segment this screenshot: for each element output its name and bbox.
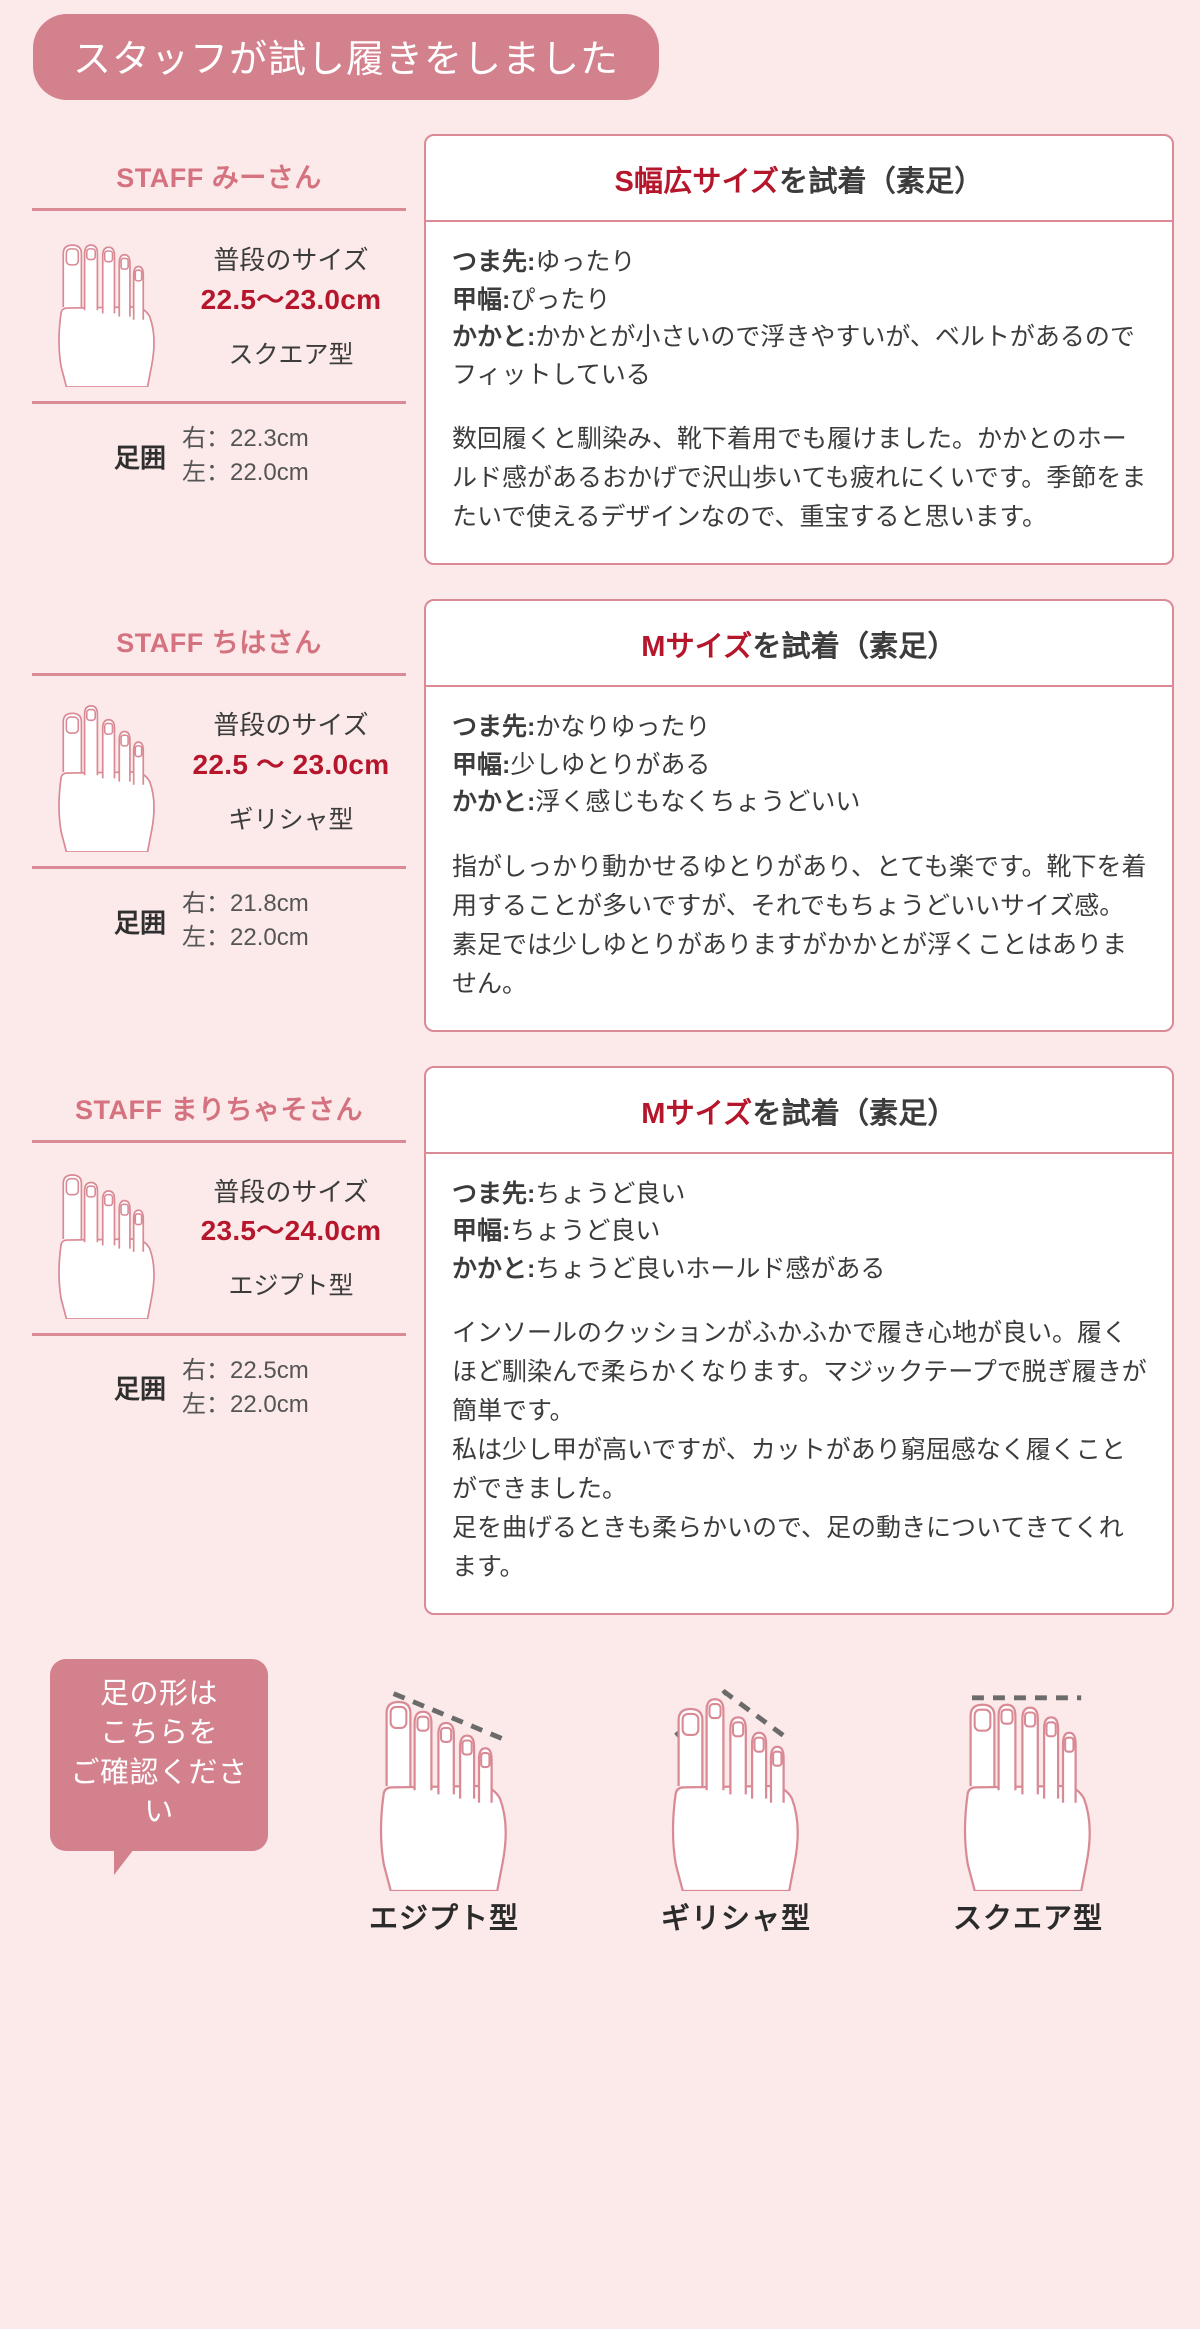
usual-size-value: 23.5〜24.0cm (182, 1210, 400, 1252)
size-highlight: Mサイズ (641, 1098, 752, 1130)
staff-review-block: STAFF みーさん 普段のサイズ 22.5〜23.0cm スクエア型 足囲 右… (26, 134, 1174, 565)
fit-value: 浮く感じもなくちょうどいい (535, 788, 860, 816)
fit-line: かかと:浮く感じもなくちょうどいい (452, 784, 1148, 822)
foot-type-label: エジプト型 (182, 1266, 400, 1302)
foot-type-card: エジプト型 (298, 1686, 590, 1937)
fit-value: ちょうど良いホールド感がある (535, 1255, 885, 1283)
staff-foot-figure (32, 227, 182, 387)
usual-size-label: 普段のサイズ (182, 1175, 400, 1210)
page-title-badge: スタッフが試し履きをしました (33, 14, 659, 100)
foot-types-section: 足の形はこちらをご確認ください エジプト型 ギリシャ型 (26, 1659, 1174, 1937)
foot-type-name: ギリシャ型 (590, 1895, 882, 1937)
fit-line: つま先:ちょうど良い (452, 1176, 1148, 1214)
fit-line: つま先:ゆったり (452, 244, 1148, 282)
foot-type-art (590, 1686, 882, 1891)
foot-type-art (882, 1686, 1174, 1891)
circumference-left: 左：22.0cm (182, 1388, 309, 1422)
circumference-right: 右：22.3cm (182, 422, 309, 456)
staff-review-block: STAFF ちはさん 普段のサイズ 22.5 〜 23.0cm ギリシャ型 足囲… (26, 599, 1174, 1032)
fit-value: ちょうど良い (510, 1217, 660, 1245)
fit-label: かかと: (452, 323, 535, 351)
fit-value: 少しゆとりがある (510, 751, 710, 779)
fit-label: かかと: (452, 1255, 535, 1283)
callout-line: 足の形は (60, 1675, 258, 1714)
circumference-label: 足囲 (32, 1369, 182, 1406)
staff-size-row: 普段のサイズ 22.5〜23.0cm スクエア型 (32, 211, 406, 401)
review-card: S幅広サイズを試着（素足） つま先:ゆったり甲幅:ぴったりかかと:かかとが小さい… (424, 134, 1174, 565)
staff-name: STAFF みーさん (32, 134, 406, 208)
review-card-title: Mサイズを試着（素足） (426, 1068, 1172, 1154)
review-card-title: S幅広サイズを試着（素足） (426, 136, 1172, 222)
staff-foot-figure (32, 692, 182, 852)
review-card-title: Mサイズを試着（素足） (426, 601, 1172, 687)
foot-illustration-square (43, 227, 171, 387)
circumference-right: 右：21.8cm (182, 887, 309, 921)
review-card-body: つま先:ちょうど良い甲幅:ちょうど良いかかと:ちょうど良いホールド感がある イン… (426, 1154, 1172, 1614)
fit-value: ぴったり (510, 286, 610, 314)
fit-line: 甲幅:ちょうど良い (452, 1213, 1148, 1251)
review-card-body: つま先:かなりゆったり甲幅:少しゆとりがあるかかと:浮く感じもなくちょうどいい … (426, 687, 1172, 1030)
usual-size-value: 22.5 〜 23.0cm (182, 744, 400, 786)
fit-label: つま先: (452, 248, 535, 276)
staff-info-column: STAFF まりちゃそさん 普段のサイズ 23.5〜24.0cm エジプト型 足… (32, 1066, 424, 1616)
review-paragraph: 素足では少しゆとりがありますがかかとが浮くことはありません。 (452, 926, 1148, 1004)
fit-label: 甲幅: (452, 286, 510, 314)
staff-info-column: STAFF ちはさん 普段のサイズ 22.5 〜 23.0cm ギリシャ型 足囲… (32, 599, 424, 1032)
size-highlight: S幅広サイズ (614, 166, 779, 198)
foot-circumference-row: 足囲 右：21.8cm 左：22.0cm (32, 869, 406, 961)
review-paragraph: 足を曲げるときも柔らかいので、足の動きについてきてくれます。 (452, 1509, 1148, 1587)
foot-type-diagrams: エジプト型 ギリシャ型 スクエア型 (298, 1686, 1174, 1937)
fit-line: 甲幅:少しゆとりがある (452, 747, 1148, 785)
foot-illustration-egypt (43, 1159, 171, 1319)
circumference-left: 左：22.0cm (182, 921, 309, 955)
fit-value: かなりゆったり (535, 713, 710, 741)
foot-illustration-square (944, 1681, 1112, 1891)
size-highlight: Mサイズ (641, 631, 752, 663)
foot-type-label: スクエア型 (182, 335, 400, 371)
foot-circumference-row: 足囲 右：22.5cm 左：22.0cm (32, 1336, 406, 1428)
fit-label: つま先: (452, 1180, 535, 1208)
staff-review-block: STAFF まりちゃそさん 普段のサイズ 23.5〜24.0cm エジプト型 足… (26, 1066, 1174, 1616)
fit-line: つま先:かなりゆったり (452, 709, 1148, 747)
review-paragraph: 私は少し甲が高いですが、カットがあり窮屈感なく履くことができました。 (452, 1431, 1148, 1509)
fit-label: 甲幅: (452, 1217, 510, 1245)
fit-line: かかと:ちょうど良いホールド感がある (452, 1251, 1148, 1289)
callout-line: こちらを (60, 1714, 258, 1753)
foot-illustration-egypt (360, 1681, 528, 1891)
circumference-left: 左：22.0cm (182, 456, 309, 490)
fit-label: つま先: (452, 713, 535, 741)
foot-type-art (298, 1686, 590, 1891)
fit-line: かかと:かかとが小さいので浮きやすいが、ベルトがあるのでフィットしている (452, 319, 1148, 394)
review-card: Mサイズを試着（素足） つま先:ちょうど良い甲幅:ちょうど良いかかと:ちょうど良… (424, 1066, 1174, 1616)
staff-size-row: 普段のサイズ 22.5 〜 23.0cm ギリシャ型 (32, 676, 406, 866)
fit-value: かかとが小さいので浮きやすいが、ベルトがあるのでフィットしている (452, 323, 1135, 389)
staff-size-row: 普段のサイズ 23.5〜24.0cm エジプト型 (32, 1143, 406, 1333)
foot-illustration-greek (652, 1681, 820, 1891)
review-paragraph: 指がしっかり動かせるゆとりがあり、とても楽です。靴下を着用することが多いですが、… (452, 848, 1148, 926)
foot-circumference-row: 足囲 右：22.3cm 左：22.0cm (32, 404, 406, 496)
callout-bubble-tail (114, 1849, 134, 1875)
foot-type-label: ギリシャ型 (182, 800, 400, 836)
staff-review-list: STAFF みーさん 普段のサイズ 22.5〜23.0cm スクエア型 足囲 右… (26, 134, 1174, 1615)
fit-label: かかと: (452, 788, 535, 816)
circumference-label: 足囲 (32, 903, 182, 940)
callout-bubble-text: 足の形はこちらをご確認ください (50, 1659, 268, 1851)
staff-foot-figure (32, 1159, 182, 1319)
fit-label: 甲幅: (452, 751, 510, 779)
usual-size-label: 普段のサイズ (182, 708, 400, 743)
review-paragraph: インソールのクッションがふかふかで履き心地が良い。履くほど馴染んで柔らかくなりま… (452, 1314, 1148, 1431)
fit-value: ちょうど良い (535, 1180, 685, 1208)
foot-type-card: ギリシャ型 (590, 1686, 882, 1937)
foot-illustration-greek (43, 692, 171, 852)
circumference-right: 右：22.5cm (182, 1354, 309, 1388)
foot-type-name: スクエア型 (882, 1895, 1174, 1937)
review-card: Mサイズを試着（素足） つま先:かなりゆったり甲幅:少しゆとりがあるかかと:浮く… (424, 599, 1174, 1032)
fit-line: 甲幅:ぴったり (452, 282, 1148, 320)
circumference-label: 足囲 (32, 438, 182, 475)
usual-size-value: 22.5〜23.0cm (182, 279, 400, 321)
review-paragraph: 数回履くと馴染み、靴下着用でも履けました。かかとのホールド感があるおかげで沢山歩… (452, 420, 1148, 537)
usual-size-label: 普段のサイズ (182, 243, 400, 278)
callout-line: ご確認ください (60, 1754, 258, 1833)
staff-info-column: STAFF みーさん 普段のサイズ 22.5〜23.0cm スクエア型 足囲 右… (32, 134, 424, 565)
foot-type-card: スクエア型 (882, 1686, 1174, 1937)
foot-type-name: エジプト型 (298, 1895, 590, 1937)
fit-value: ゆったり (535, 248, 635, 276)
review-card-body: つま先:ゆったり甲幅:ぴったりかかと:かかとが小さいので浮きやすいが、ベルトがあ… (426, 222, 1172, 563)
staff-name: STAFF ちはさん (32, 599, 406, 673)
foot-type-callout: 足の形はこちらをご確認ください (36, 1659, 298, 1937)
staff-name: STAFF まりちゃそさん (32, 1066, 406, 1140)
page-root: スタッフが試し履きをしました STAFF みーさん 普段のサイズ 22.5〜23… (0, 0, 1200, 2329)
